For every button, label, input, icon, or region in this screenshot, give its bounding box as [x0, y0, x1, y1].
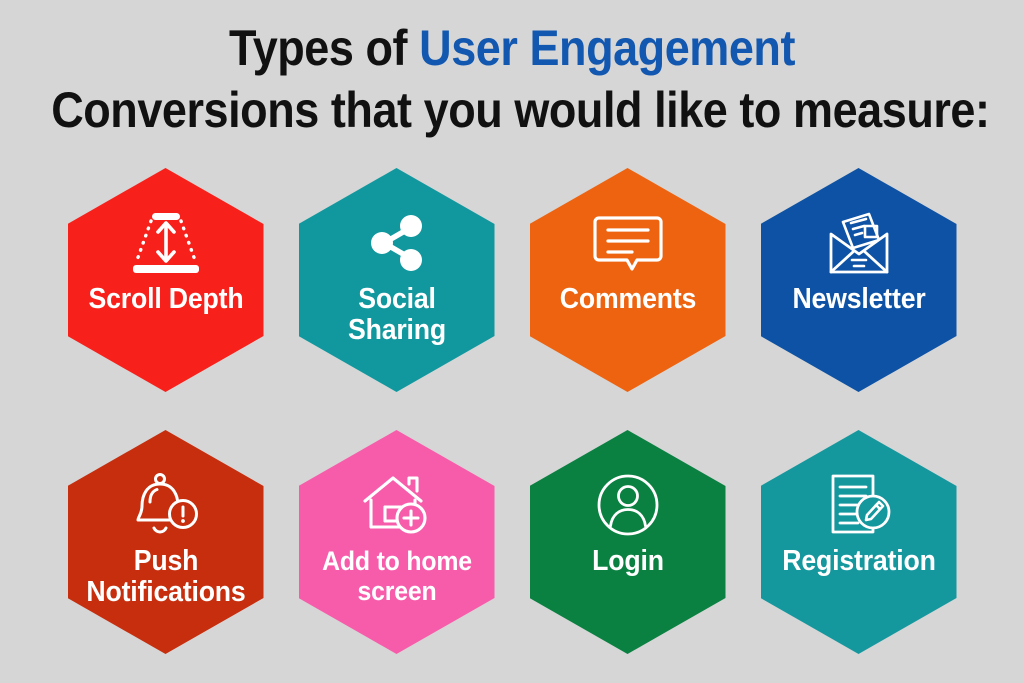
card-label: Social Sharing [315, 284, 479, 346]
house-plus-icon [355, 472, 439, 538]
comment-bubble-icon [586, 210, 670, 276]
hexagon-row-1: Scroll Depth Social Sharing [0, 168, 1024, 403]
card-label: Newsletter [777, 284, 941, 315]
card-login[interactable]: Login [530, 430, 726, 654]
card-scroll-depth[interactable]: Scroll Depth [68, 168, 264, 392]
document-pencil-icon [817, 472, 901, 538]
card-social-sharing[interactable]: Social Sharing [299, 168, 495, 392]
engagement-infographic: Types of User Engagement Conversions tha… [0, 0, 1024, 683]
card-label: Add to home screen [315, 546, 479, 606]
card-label: Scroll Depth [84, 284, 248, 315]
infographic-title: Types of User Engagement Conversions tha… [0, 18, 1024, 140]
share-nodes-icon [355, 210, 439, 276]
card-label: Comments [546, 284, 710, 315]
card-label: Login [546, 546, 710, 577]
card-newsletter[interactable]: Newsletter [761, 168, 957, 392]
title-line-1: Types of User Engagement [51, 18, 973, 78]
card-label: Registration [777, 546, 941, 577]
envelope-newspaper-icon [817, 210, 901, 276]
bell-alert-icon [124, 472, 208, 538]
card-add-to-home-screen[interactable]: Add to home screen [299, 430, 495, 654]
hexagon-row-2: Push Notifications [0, 430, 1024, 665]
hexagon-grid: Scroll Depth Social Sharing [0, 160, 1024, 680]
card-label: Push Notifications [84, 546, 248, 608]
card-comments[interactable]: Comments [530, 168, 726, 392]
card-registration[interactable]: Registration [761, 430, 957, 654]
title-line-1-accent: User Engagement [419, 20, 795, 76]
user-circle-icon [586, 472, 670, 538]
scroll-depth-icon [124, 210, 208, 276]
card-push-notifications[interactable]: Push Notifications [68, 430, 264, 654]
title-line-1-prefix: Types of [229, 20, 419, 76]
title-line-2: Conversions that you would like to measu… [51, 80, 973, 140]
